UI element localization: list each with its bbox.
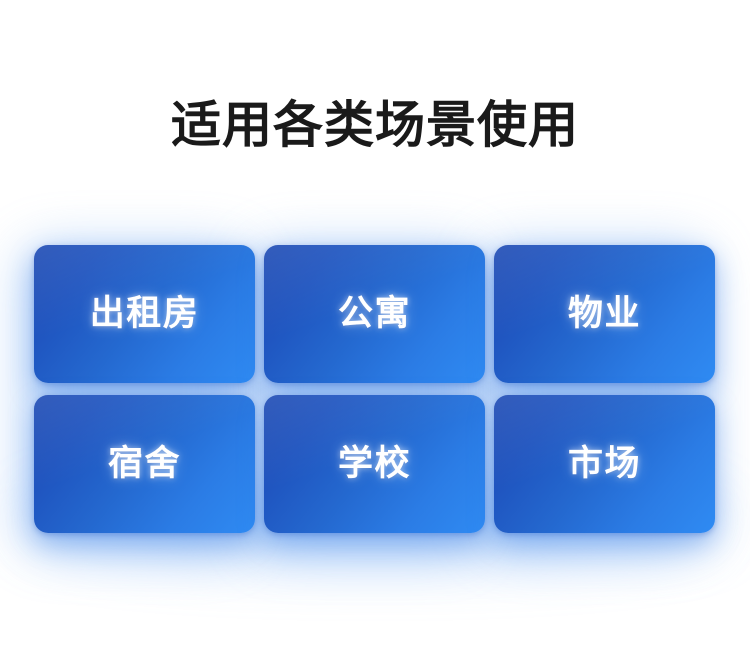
scene-tile-market[interactable]: 市场 [494, 395, 715, 533]
scene-tile-label: 市场 [568, 444, 641, 484]
scene-tile-apartment[interactable]: 公寓 [264, 245, 485, 383]
scene-tile-label: 物业 [568, 294, 641, 334]
scene-tile-label: 公寓 [338, 294, 411, 334]
scene-tile-label: 学校 [338, 444, 411, 484]
scenario-showcase-page: 适用各类场景使用 出租房 公寓 物业 宿舍 学校 市场 [0, 0, 750, 651]
scene-tile-school[interactable]: 学校 [264, 395, 485, 533]
scene-tile-label: 出租房 [90, 294, 200, 334]
scene-tile-rental-room[interactable]: 出租房 [34, 245, 255, 383]
scene-tile-property-management[interactable]: 物业 [494, 245, 715, 383]
scene-tile-label: 宿舍 [108, 444, 181, 484]
scene-tile-grid: 出租房 公寓 物业 宿舍 学校 市场 [34, 245, 715, 533]
page-title-container: 适用各类场景使用 [0, 96, 750, 154]
page-title: 适用各类场景使用 [171, 96, 579, 154]
scene-tile-dormitory[interactable]: 宿舍 [34, 395, 255, 533]
